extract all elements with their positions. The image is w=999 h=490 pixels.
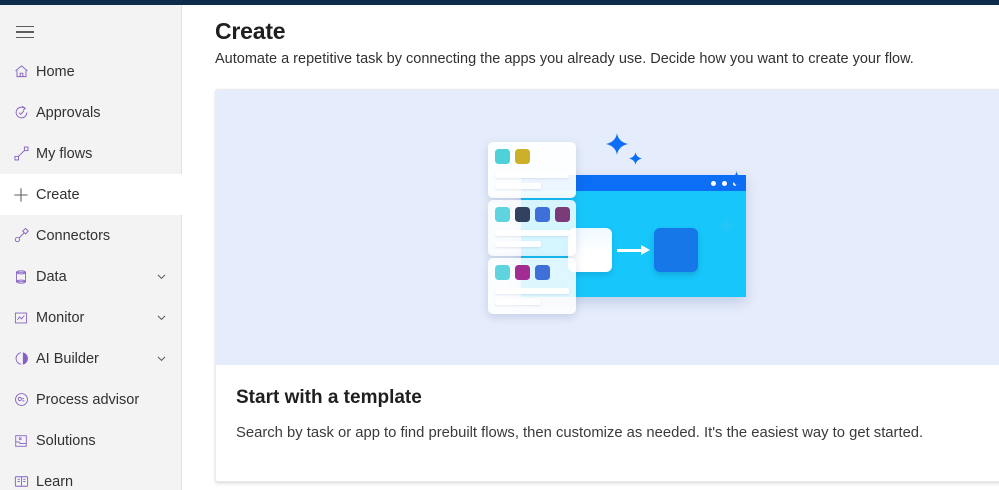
plus-icon bbox=[6, 184, 36, 206]
mini-card-line bbox=[495, 172, 569, 178]
sparkle-icon bbox=[606, 133, 628, 155]
chip bbox=[495, 149, 510, 164]
chip bbox=[515, 207, 530, 222]
data-icon bbox=[6, 266, 36, 288]
hamburger-line bbox=[16, 31, 34, 33]
sidebar-item-data[interactable]: Data bbox=[0, 256, 182, 297]
illustration bbox=[216, 90, 999, 365]
illustration-mini-card bbox=[488, 258, 576, 314]
sidebar-nav: Home Approvals bbox=[0, 51, 182, 490]
mini-card-chips bbox=[495, 265, 550, 280]
mini-card-line bbox=[495, 241, 541, 247]
sidebar-item-ai-builder[interactable]: AI Builder bbox=[0, 338, 182, 379]
mini-card-line bbox=[495, 230, 569, 236]
hamburger-line bbox=[16, 26, 34, 28]
sparkle-icon bbox=[728, 171, 745, 188]
sidebar-item-monitor[interactable]: Monitor bbox=[0, 297, 182, 338]
learn-icon bbox=[6, 471, 36, 490]
sidebar: Home Approvals bbox=[0, 5, 182, 490]
approvals-icon bbox=[6, 102, 36, 124]
sidebar-item-label: My flows bbox=[36, 146, 182, 162]
window-dot bbox=[711, 181, 716, 186]
sidebar-item-label: AI Builder bbox=[36, 351, 148, 367]
connectors-icon bbox=[6, 225, 36, 247]
sidebar-item-label: Process advisor bbox=[36, 392, 182, 408]
sidebar-item-create[interactable]: Create bbox=[0, 174, 182, 215]
chip bbox=[515, 149, 530, 164]
chevron-down-icon[interactable] bbox=[148, 266, 174, 288]
card-description: Search by task or app to find prebuilt f… bbox=[236, 421, 976, 445]
chip bbox=[495, 207, 510, 222]
sidebar-item-learn[interactable]: Learn bbox=[0, 461, 182, 490]
chevron-down-icon[interactable] bbox=[148, 307, 174, 329]
page-title: Create bbox=[215, 18, 285, 45]
chip bbox=[495, 265, 510, 280]
sparkle-icon bbox=[629, 152, 642, 165]
card-hero-illustration bbox=[216, 90, 999, 365]
start-with-template-card[interactable]: Start with a template Search by task or … bbox=[215, 89, 999, 482]
page-subtitle: Automate a repetitive task by connecting… bbox=[215, 51, 914, 67]
hamburger-line bbox=[16, 37, 34, 39]
solutions-icon bbox=[6, 430, 36, 452]
chip bbox=[535, 207, 550, 222]
chip bbox=[535, 265, 550, 280]
chip bbox=[515, 265, 530, 280]
arrow-head bbox=[641, 245, 650, 255]
sidebar-item-label: Data bbox=[36, 269, 148, 285]
process-advisor-icon bbox=[6, 389, 36, 411]
mini-card-chips bbox=[495, 207, 570, 222]
sidebar-item-my-flows[interactable]: My flows bbox=[0, 133, 182, 174]
monitor-icon bbox=[6, 307, 36, 329]
ai-builder-icon bbox=[6, 348, 36, 370]
my-flows-icon bbox=[6, 143, 36, 165]
mini-card-chips bbox=[495, 149, 530, 164]
home-icon bbox=[6, 61, 36, 83]
sidebar-item-connectors[interactable]: Connectors bbox=[0, 215, 182, 256]
sidebar-item-solutions[interactable]: Solutions bbox=[0, 420, 182, 461]
sidebar-item-label: Solutions bbox=[36, 433, 182, 449]
chip bbox=[555, 207, 570, 222]
sidebar-item-process-advisor[interactable]: Process advisor bbox=[0, 379, 182, 420]
illustration-mini-card bbox=[488, 200, 576, 256]
mini-card-line bbox=[495, 183, 541, 189]
flow-arrow-icon bbox=[617, 248, 651, 252]
card-body: Start with a template Search by task or … bbox=[216, 365, 999, 445]
sidebar-item-label: Approvals bbox=[36, 105, 182, 121]
hamburger-menu-icon[interactable] bbox=[7, 17, 43, 47]
sidebar-item-label: Learn bbox=[36, 474, 182, 490]
illustration-mini-card bbox=[488, 142, 576, 198]
mini-card-line bbox=[495, 288, 569, 294]
chevron-down-icon[interactable] bbox=[148, 348, 174, 370]
app-root: Home Approvals bbox=[0, 0, 999, 490]
sidebar-item-label: Create bbox=[36, 187, 182, 203]
sparkle-icon bbox=[716, 216, 736, 236]
sidebar-item-label: Monitor bbox=[36, 310, 148, 326]
sidebar-item-home[interactable]: Home bbox=[0, 51, 182, 92]
main-content: Create Automate a repetitive task by con… bbox=[183, 5, 999, 490]
sidebar-item-approvals[interactable]: Approvals bbox=[0, 92, 182, 133]
window-dot bbox=[722, 181, 727, 186]
sidebar-item-label: Connectors bbox=[36, 228, 182, 244]
card-heading: Start with a template bbox=[236, 387, 999, 409]
flow-target-node bbox=[654, 228, 698, 272]
sidebar-item-label: Home bbox=[36, 64, 182, 80]
mini-card-line bbox=[495, 299, 541, 305]
